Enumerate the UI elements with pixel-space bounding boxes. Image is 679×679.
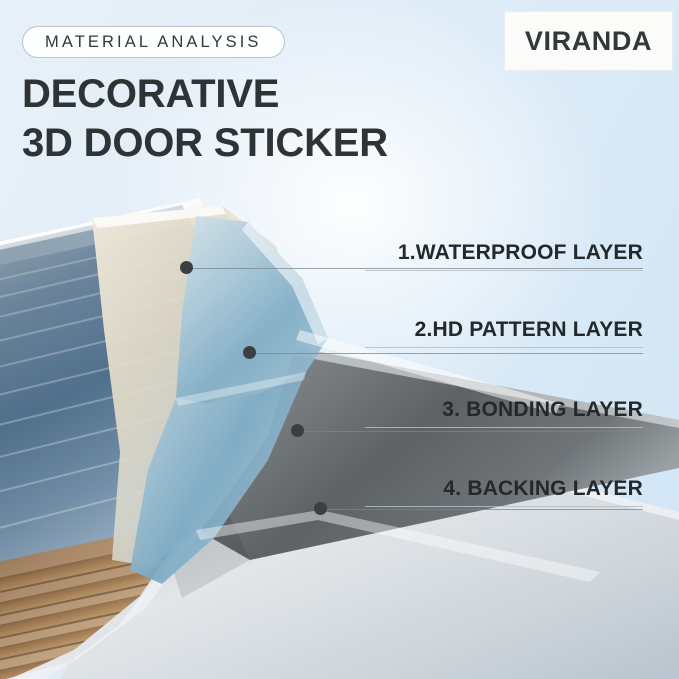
page-title-line-2: 3D DOOR STICKER	[22, 119, 388, 168]
callout-backing-layer: 4. BACKING LAYER	[365, 477, 643, 507]
page-title-line-1: DECORATIVE	[22, 72, 279, 116]
material-analysis-infographic: MATERIAL ANALYSIS DECORATIVE 3D DOOR STI…	[0, 0, 679, 679]
eyebrow-badge: MATERIAL ANALYSIS	[22, 26, 285, 58]
leader-line-2	[253, 353, 643, 354]
callout-dot-4	[314, 502, 327, 515]
callout-rule-3	[365, 427, 643, 428]
callout-dot-2	[243, 346, 256, 359]
callout-label-1: 1.WATERPROOF LAYER	[365, 241, 643, 270]
callout-label-4: 4. BACKING LAYER	[365, 477, 643, 506]
leader-line-3	[301, 431, 643, 432]
leader-line-4	[324, 509, 643, 510]
callout-waterproof-layer: 1.WATERPROOF LAYER	[365, 241, 643, 271]
callout-dot-3	[291, 424, 304, 437]
brand-logo: VIRANDA	[505, 12, 672, 70]
page-title: DECORATIVE 3D DOOR STICKER	[22, 70, 388, 168]
callout-label-2: 2.HD PATTERN LAYER	[365, 318, 643, 347]
callout-rule-4	[365, 506, 643, 507]
callout-bonding-layer: 3. BONDING LAYER	[365, 398, 643, 428]
callout-dot-1	[180, 261, 193, 274]
leader-line-1	[190, 268, 643, 269]
callout-rule-1	[365, 270, 643, 271]
callout-label-3: 3. BONDING LAYER	[365, 398, 643, 427]
brand-name: VIRANDA	[525, 26, 652, 57]
eyebrow-label: MATERIAL ANALYSIS	[45, 33, 262, 52]
callout-hd-pattern-layer: 2.HD PATTERN LAYER	[365, 318, 643, 348]
callout-rule-2	[365, 347, 643, 348]
